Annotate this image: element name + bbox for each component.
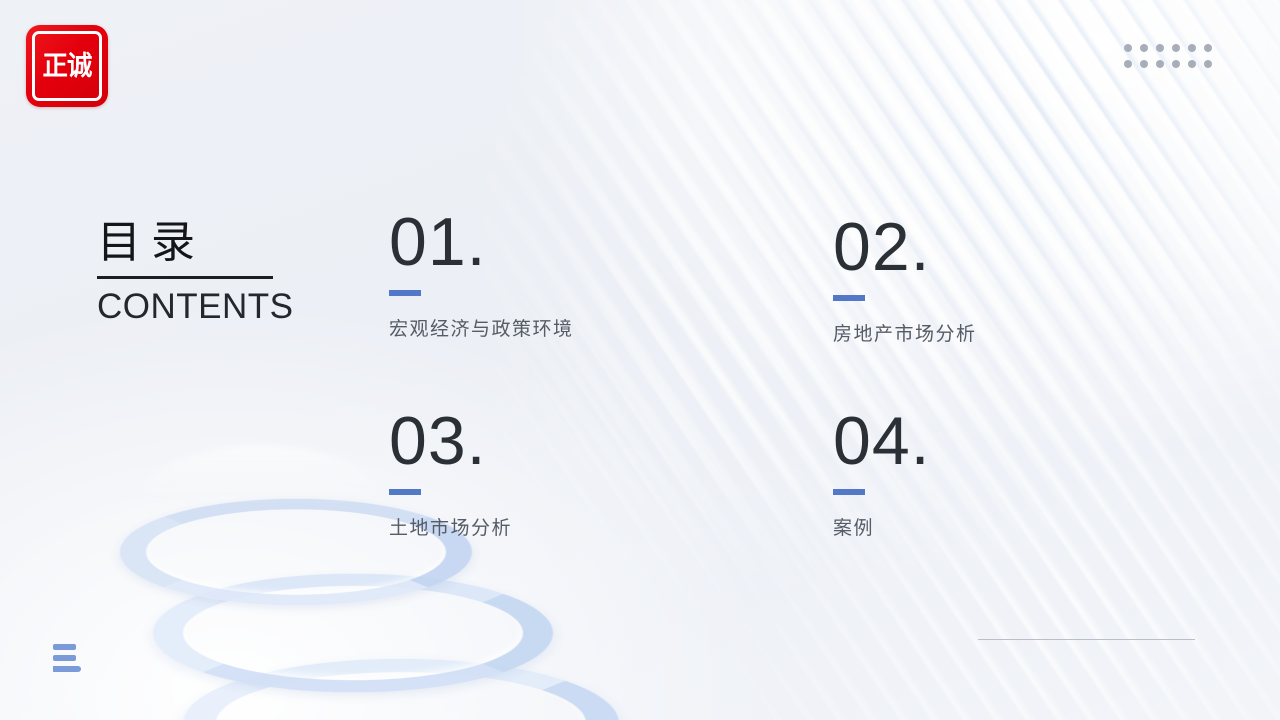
dot [1124,60,1132,68]
brand-logo-border: 正诚 [32,31,102,101]
diagonal-stripes-top-right-icon [245,0,1280,720]
dot [1204,60,1212,68]
page-title-chinese: 目录 [97,215,367,270]
agenda-item-number: 04. [833,407,1163,475]
agenda-item-number: 03. [389,407,719,475]
spiral-ring-3 [183,659,619,720]
agenda-item-label: 房地产市场分析 [833,321,1163,348]
spiral-ring-2 [153,574,553,693]
brand-logo-text: 正诚 [43,53,92,80]
page-title-english: CONTENTS [97,288,367,327]
dot [1140,44,1148,52]
dot [1156,60,1164,68]
menu-bar-1 [53,644,76,650]
agenda-item-02[interactable]: 02. 房地产市场分析 [833,213,1163,348]
dot [1124,44,1132,52]
diagonal-stripes-bottom-right-icon [594,91,1280,720]
diagonal-stripes-center-icon [328,0,1133,720]
agenda-item-01[interactable]: 01. 宏观经济与政策环境 [389,208,719,343]
menu-bar-3 [53,666,81,672]
agenda-item-number: 02. [833,213,1163,281]
agenda-item-accent-dash [389,290,421,296]
hamburger-menu-icon[interactable] [53,644,81,672]
agenda-item-accent-dash [833,295,865,301]
dot [1172,60,1180,68]
spiral-highlight [135,445,385,505]
dot [1204,44,1212,52]
agenda-item-number: 01. [389,208,719,276]
menu-bar-2 [53,655,76,661]
dot [1156,44,1164,52]
agenda-item-label: 宏观经济与政策环境 [389,316,719,343]
dot-grid-icon [1124,44,1212,68]
agenda-item-03[interactable]: 03. 土地市场分析 [389,407,719,542]
agenda-item-label: 案例 [833,515,1163,542]
dot [1188,60,1196,68]
dot [1172,44,1180,52]
bottom-divider [978,639,1195,640]
brand-logo: 正诚 [26,25,108,107]
agenda-item-accent-dash [389,489,421,495]
agenda-item-accent-dash [833,489,865,495]
page-title-rule [97,276,273,279]
dot [1188,44,1196,52]
page-title: 目录 CONTENTS [97,215,367,327]
presentation-slide: 正诚 目录 CONTENTS 01. 宏观经济与政策环境 02. 房地产市场分析… [0,0,1280,720]
agenda-item-04[interactable]: 04. 案例 [833,407,1163,542]
agenda-item-label: 土地市场分析 [389,515,719,542]
dot [1140,60,1148,68]
